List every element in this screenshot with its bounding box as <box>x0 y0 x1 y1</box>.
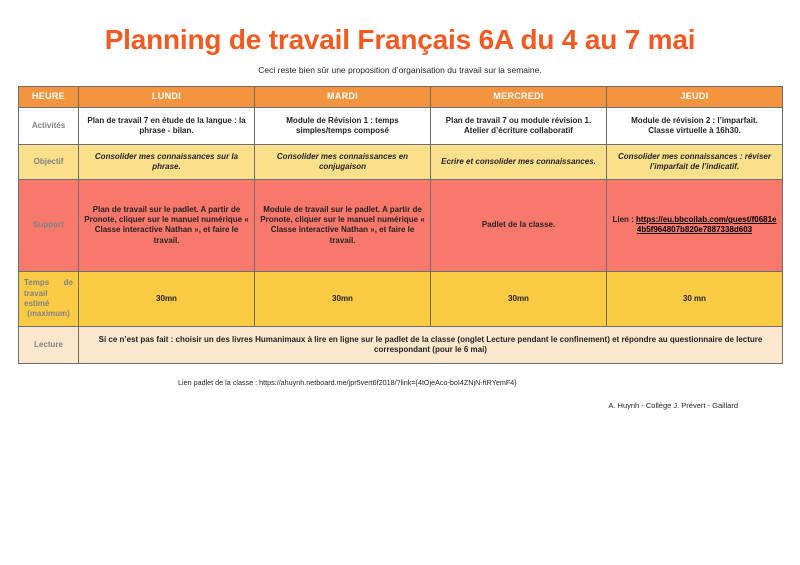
row-label-temps-de-travail: Temps de travail estimé (maximum) <box>19 271 79 326</box>
row-label-objectif: Objectif <box>19 144 79 179</box>
page-title: Planning de travail Français 6A du 4 au … <box>0 0 800 56</box>
document-page: Planning de travail Français 6A du 4 au … <box>0 0 800 565</box>
cell-temps-jeudi: 30 mn <box>607 271 783 326</box>
table-row: Activités Plan de travail 7 en étude de … <box>19 107 783 144</box>
cell-activites-jeudi-line2: Classe virtuelle à 16h30. <box>612 126 777 136</box>
cell-support-mardi: Module de travail sur le padlet. A parti… <box>255 179 431 271</box>
cell-temps-mercredi: 30mn <box>431 271 607 326</box>
cell-objectif-lundi: Consolider mes connaissances sur la phra… <box>79 144 255 179</box>
cell-activites-jeudi: Module de révision 2 : l’imparfait. Clas… <box>607 107 783 144</box>
column-header-mercredi: MERCREDI <box>431 86 607 107</box>
cell-temps-mardi: 30mn <box>255 271 431 326</box>
column-header-heure: HEURE <box>19 86 79 107</box>
table-row: Temps de travail estimé (maximum) 30mn 3… <box>19 271 783 326</box>
table-header-row: HEURE LUNDI MARDI MERCREDI JEUDI <box>19 86 783 107</box>
column-header-jeudi: JEUDI <box>607 86 783 107</box>
planning-table-wrapper: HEURE LUNDI MARDI MERCREDI JEUDI Activit… <box>18 86 782 364</box>
cell-lecture-semaine: Si ce n’est pas fait : choisir un des li… <box>79 326 783 363</box>
cell-objectif-mercredi: Ecrire et consolider mes connaissances. <box>431 144 607 179</box>
footer-padlet-link[interactable]: Lien padlet de la classe : https://ahuyn… <box>0 364 800 387</box>
cell-objectif-mardi: Consolider mes connaissances en conjugai… <box>255 144 431 179</box>
cell-activites-mardi: Module de Révision 1 : temps simples/tem… <box>255 107 431 144</box>
cell-temps-lundi: 30mn <box>79 271 255 326</box>
cell-objectif-jeudi: Consolider mes connaissances : réviser l… <box>607 144 783 179</box>
page-subtitle: Ceci reste bien sûr une proposition d’or… <box>0 56 800 75</box>
column-header-mardi: MARDI <box>255 86 431 107</box>
cell-activites-jeudi-line1: Module de révision 2 : l’imparfait. <box>631 116 758 125</box>
bbcollab-link[interactable]: https://eu.bbcollab.com/guest/f0681e4b5f… <box>636 215 776 234</box>
cell-support-mercredi: Padlet de la classe. <box>431 179 607 271</box>
table-row: Support Plan de travail sur le padlet. A… <box>19 179 783 271</box>
footer-author: A. Huynh - Collège J. Prévert - Gaillard <box>0 387 800 410</box>
cell-activites-lundi: Plan de travail 7 en étude de la langue … <box>79 107 255 144</box>
row-label-support: Support <box>19 179 79 271</box>
row-label-activites: Activités <box>19 107 79 144</box>
planning-table: HEURE LUNDI MARDI MERCREDI JEUDI Activit… <box>18 86 783 364</box>
cell-support-lundi: Plan de travail sur le padlet. A partir … <box>79 179 255 271</box>
column-header-lundi: LUNDI <box>79 86 255 107</box>
cell-activites-mercredi: Plan de travail 7 ou module révision 1. … <box>431 107 607 144</box>
table-row: Lecture Si ce n’est pas fait : choisir u… <box>19 326 783 363</box>
row-label-lecture: Lecture <box>19 326 79 363</box>
table-row: Objectif Consolider mes connaissances su… <box>19 144 783 179</box>
cell-support-jeudi-prefix: Lien : <box>612 215 636 224</box>
cell-support-jeudi: Lien : https://eu.bbcollab.com/guest/f06… <box>607 179 783 271</box>
